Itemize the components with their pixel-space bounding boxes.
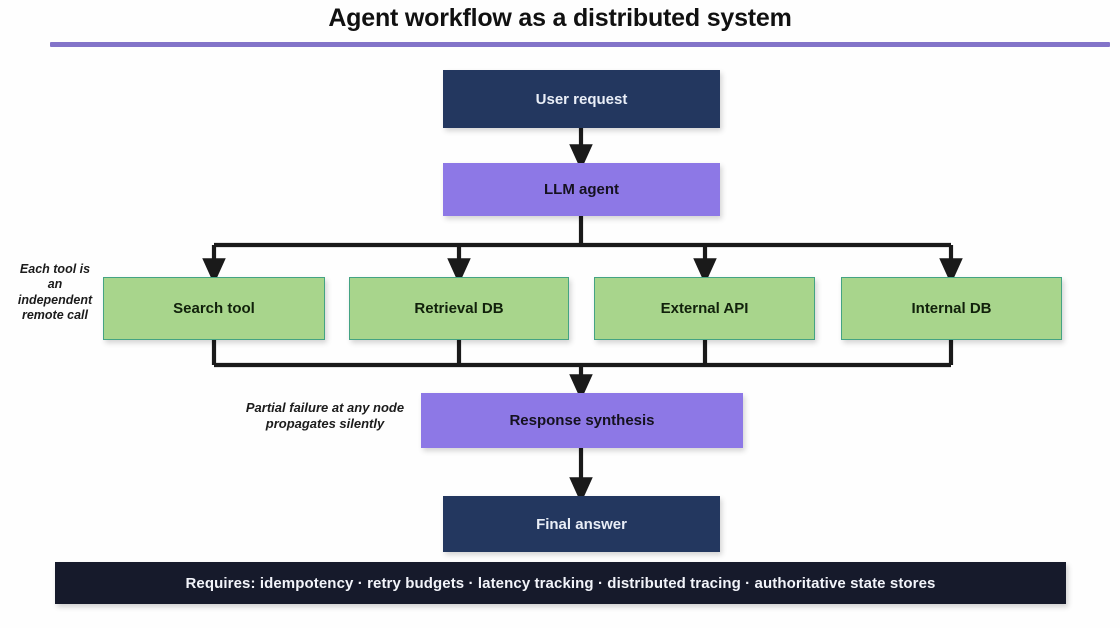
node-external-api-label: External API — [661, 300, 749, 317]
annotation-tools-note: Each tool is an independent remote call — [16, 262, 94, 323]
node-search-tool-label: Search tool — [173, 300, 255, 317]
footer-requirements-bar: Requires: idempotency · retry budgets · … — [55, 562, 1066, 604]
node-user-request-label: User request — [536, 91, 628, 108]
node-response-synthesis-label: Response synthesis — [509, 412, 654, 429]
node-internal-db-label: Internal DB — [911, 300, 991, 317]
footer-requirements-text: Requires: idempotency · retry budgets · … — [185, 575, 935, 592]
node-final-answer-label: Final answer — [536, 516, 627, 533]
node-internal-db[interactable]: Internal DB — [841, 277, 1062, 340]
node-response-synthesis[interactable]: Response synthesis — [421, 393, 743, 448]
node-llm-agent-label: LLM agent — [544, 181, 619, 198]
node-retrieval-db[interactable]: Retrieval DB — [349, 277, 569, 340]
node-user-request[interactable]: User request — [443, 70, 720, 128]
annotation-failure-note: Partial failure at any node propagates s… — [230, 400, 420, 432]
node-retrieval-db-label: Retrieval DB — [414, 300, 503, 317]
node-search-tool[interactable]: Search tool — [103, 277, 325, 340]
node-final-answer[interactable]: Final answer — [443, 496, 720, 552]
slide-canvas: Agent workflow as a distributed system — [0, 0, 1120, 628]
node-external-api[interactable]: External API — [594, 277, 815, 340]
node-llm-agent[interactable]: LLM agent — [443, 163, 720, 216]
